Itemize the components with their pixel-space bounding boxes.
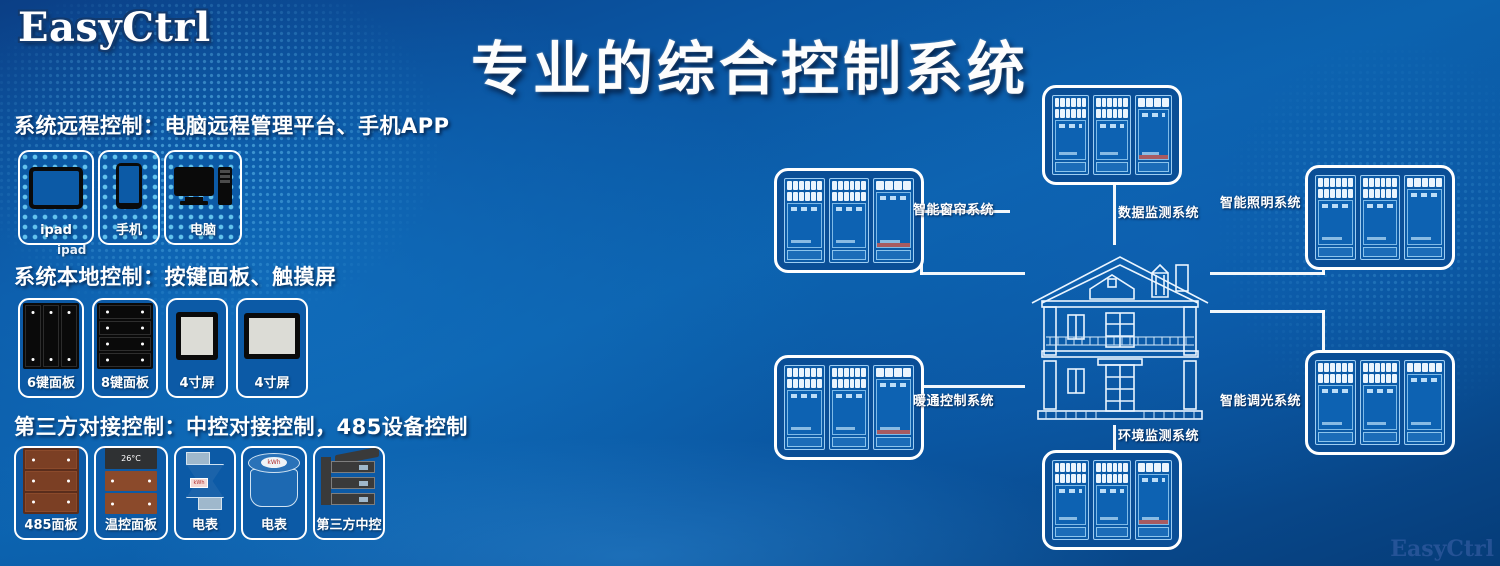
device-card-4inch-screen-1[interactable]: 4寸屏: [166, 298, 228, 398]
ipad-sub-caption: ipad: [57, 243, 86, 257]
six-key-panel-icon: [20, 300, 82, 372]
brand-logo: EasyCtrl: [18, 4, 211, 51]
device-card-label: 电脑: [190, 219, 216, 243]
diagram-label-dimming: 智能调光系统: [1220, 390, 1301, 409]
device-card-third-party-controller[interactable]: 第三方中控: [313, 446, 385, 540]
eight-key-panel-icon: [94, 300, 156, 372]
device-card-485-panel[interactable]: 485面板: [14, 446, 88, 540]
rs485-panel-icon: [16, 448, 86, 514]
device-card-label: 温控面板: [105, 514, 157, 538]
module-box-environment[interactable]: [1042, 450, 1182, 550]
device-card-meter-2[interactable]: kWh 电表: [241, 446, 307, 540]
device-card-meter-1[interactable]: kWh 电表: [174, 446, 236, 540]
diagram-label-environment: 环境监测系统: [1118, 425, 1199, 444]
module-box-lighting[interactable]: [1305, 165, 1455, 270]
round-electric-meter-icon: kWh: [243, 448, 305, 514]
electric-meter-icon: kWh: [176, 448, 234, 514]
house-illustration: [1020, 245, 1220, 425]
diagram-label-hvac: 暖通控制系统: [913, 390, 994, 409]
third-party-controller-icon: [315, 448, 383, 514]
device-card-label: 第三方中控: [316, 514, 381, 538]
module-box-dimming[interactable]: [1305, 350, 1455, 455]
device-card-phone[interactable]: 手机: [98, 150, 160, 245]
poster-canvas: EasyCtrl 专业的综合控制系统 系统远程控制：电脑远程管理平台、手机APP…: [0, 0, 1500, 566]
thermostat-panel-icon: 26°C: [96, 448, 166, 514]
device-card-label: 4寸屏: [179, 372, 214, 396]
four-inch-screen-icon: [238, 300, 306, 372]
meter-dial-label: kWh: [261, 457, 287, 468]
diagram-label-curtain: 智能窗帘系统: [913, 199, 994, 218]
section-heading-thirdparty: 第三方对接控制：中控对接控制，485设备控制: [14, 411, 468, 441]
device-card-4inch-screen-2[interactable]: 4寸屏: [236, 298, 308, 398]
section-heading-local: 系统本地控制：按键面板、触摸屏: [14, 261, 337, 291]
device-card-label: 8键面板: [101, 372, 149, 396]
smartphone-icon: [100, 152, 158, 219]
four-inch-screen-icon: [168, 300, 226, 372]
diagram-label-lighting: 智能照明系统: [1220, 192, 1301, 211]
device-card-thermostat-panel[interactable]: 26°C 温控面板: [94, 446, 168, 540]
device-card-label: 手机: [116, 219, 142, 243]
system-topology-diagram: 智能窗帘系统 数据监测系统 智能照明系统 暖通控制系统 环境监测系统 智能调光系…: [760, 60, 1500, 566]
device-card-label: 电表: [192, 514, 218, 538]
device-card-label: 4寸屏: [254, 372, 289, 396]
module-box-data-monitor[interactable]: [1042, 85, 1182, 185]
desktop-computer-icon: [166, 152, 240, 219]
device-card-label: 电表: [261, 514, 287, 538]
device-card-ipad[interactable]: ipad: [18, 150, 94, 245]
device-card-computer[interactable]: 电脑: [164, 150, 242, 245]
device-card-8key-panel[interactable]: 8键面板: [92, 298, 158, 398]
brand-watermark: EasyCtrl: [1390, 536, 1494, 562]
wire-top-left-h2: [920, 272, 1025, 275]
module-box-hvac[interactable]: [774, 355, 924, 460]
tablet-icon: [20, 152, 92, 223]
wire-bottom-left-h2: [920, 385, 1025, 388]
section-heading-remote: 系统远程控制：电脑远程管理平台、手机APP: [14, 110, 450, 140]
device-card-6key-panel[interactable]: 6键面板: [18, 298, 84, 398]
wire-bottom-right-h: [1210, 310, 1325, 313]
module-box-curtain[interactable]: [774, 168, 924, 273]
wire-top-right-h: [1210, 272, 1325, 275]
device-card-label: 485面板: [24, 514, 77, 538]
device-card-label: ipad: [40, 223, 72, 243]
device-card-label: 6键面板: [27, 372, 75, 396]
diagram-label-data-monitor: 数据监测系统: [1118, 202, 1199, 221]
thermostat-temperature-display: 26°C: [105, 448, 157, 469]
meter-tag: kWh: [190, 478, 208, 488]
